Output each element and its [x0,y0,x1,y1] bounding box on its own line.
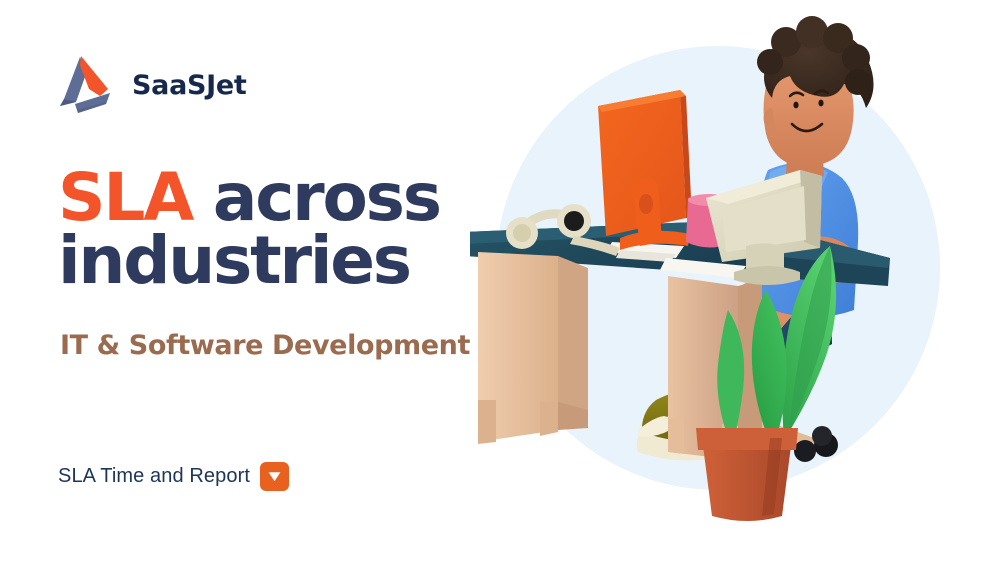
page-subtitle: IT & Software Development [60,330,470,361]
developer-at-desk-illustration [470,0,999,562]
saasjet-triangle-logo-icon [56,52,118,118]
page-title: SLA across industries [58,166,528,293]
product-label: SLA Time and Report [58,462,289,491]
product-label-text: SLA Time and Report [58,465,250,488]
slide-canvas: SaaSJet SLA across industries IT & Softw… [0,0,999,562]
brand-lockup: SaaSJet [56,52,247,118]
triangle-down-icon [260,462,289,491]
brand-name: SaaSJet [132,70,247,101]
